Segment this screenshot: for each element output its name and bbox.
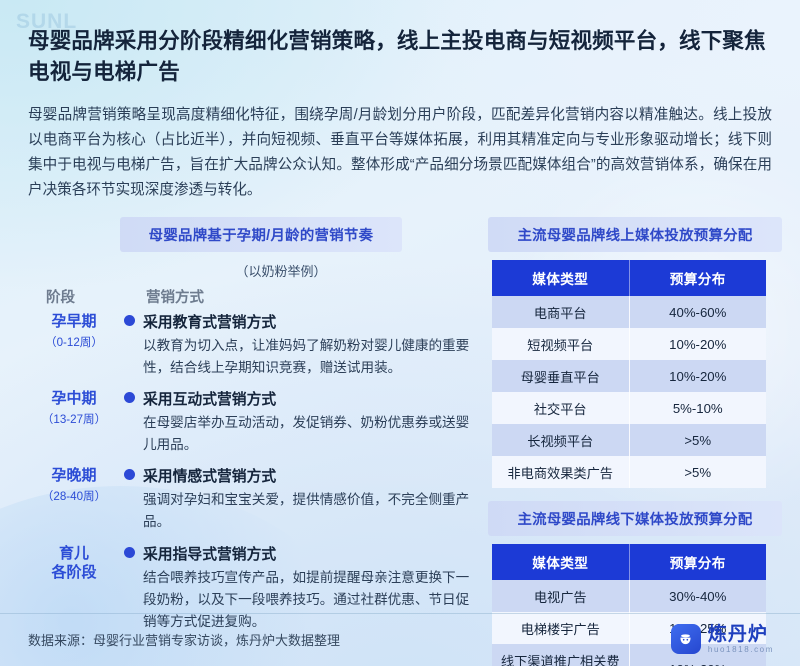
table-header-row: 媒体类型预算分布 [492,260,766,296]
bullet-dot-icon [124,469,135,480]
bullet-dot-icon [124,547,135,558]
tables-spacer [488,488,770,501]
brand-name: 炼丹炉 [708,625,774,644]
budget-share-cell: >5% [629,456,766,488]
budget-share-cell: >5% [629,424,766,456]
table-row: 电视广告30%-40% [492,580,766,612]
stage-row: 孕早期（0-12周）采用教育式营销方式以教育为切入点，让准妈妈了解奶粉对婴儿健康… [28,311,474,379]
stage-title: 采用互动式营销方式 [143,388,276,409]
online-budget-table-wrap: 媒体类型预算分布电商平台40%-60%短视频平台10%-20%母婴垂直平台10%… [488,260,770,488]
stage-weeks: （0-12周） [28,334,120,350]
table-row: 长视频平台>5% [492,424,766,456]
infographic-page: SUNL 母婴品牌采用分阶段精细化营销策略，线上主投电商与短视频平台，线下聚焦电… [0,0,800,666]
media-type-cell: 短视频平台 [492,328,629,360]
stage-label: 孕中期（13-27周） [28,388,120,456]
media-type-cell: 非电商效果类广告 [492,456,629,488]
brand-url: huo1818.com [708,646,774,654]
stage-title: 采用教育式营销方式 [143,311,276,332]
offline-budget-title: 主流母婴品牌线下媒体投放预算分配 [488,501,782,536]
stage-weeks: （13-27周） [28,411,120,427]
media-type-cell: 电商平台 [492,296,629,328]
bullet-dot-icon [124,392,135,403]
marketing-rhythm-panel: 母婴品牌基于孕期/月龄的营销节奏 （以奶粉举例） 阶段 营销方式 孕早期（0-1… [28,217,474,632]
page-title: 母婴品牌采用分阶段精细化营销策略，线上主投电商与短视频平台，线下聚焦电视与电梯广… [28,26,772,87]
table-row: 短视频平台10%-20% [492,328,766,360]
furnace-icon [671,624,701,654]
stage-title-line: 采用互动式营销方式 [124,388,474,409]
stage-list: 孕早期（0-12周）采用教育式营销方式以教育为切入点，让准妈妈了解奶粉对婴儿健康… [28,311,474,632]
media-type-cell: 母婴垂直平台 [492,360,629,392]
stage-table-header: 阶段 营销方式 [28,286,474,307]
summary-paragraph: 母婴品牌营销策略呈现高度精细化特征，围绕孕周/月龄划分用户阶段，匹配差异化营销内… [28,103,772,203]
brand-logo: 炼丹炉 huo1818.com [671,624,774,654]
budget-share-cell: 10%-20% [629,328,766,360]
budget-share-cell: 30%-40% [629,580,766,612]
stage-row: 孕中期（13-27周）采用互动式营销方式在母婴店举办互动活动，发促销券、奶粉优惠… [28,388,474,456]
stage-name: 孕晚期 [28,466,120,486]
table-row: 母婴垂直平台10%-20% [492,360,766,392]
online-budget-table: 媒体类型预算分布电商平台40%-60%短视频平台10%-20%母婴垂直平台10%… [492,260,766,488]
stage-row: 孕晚期（28-40周）采用情感式营销方式强调对孕妇和宝宝关爱，提供情感价值，不完… [28,465,474,533]
table-header-row: 媒体类型预算分布 [492,544,766,580]
stage-label: 孕晚期（28-40周） [28,465,120,533]
page-footer: 数据来源：母婴行业营销专家访谈，炼丹炉大数据整理 炼丹炉 huo1818.com [0,613,800,666]
column-header: 预算分布 [629,260,766,296]
media-type-cell: 长视频平台 [492,424,629,456]
stage-description: 强调对孕妇和宝宝关爱，提供情感价值，不完全侧重产品。 [143,489,474,533]
table-row: 社交平台5%-10% [492,392,766,424]
stage-title-line: 采用指导式营销方式 [124,543,474,564]
budget-share-cell: 5%-10% [629,392,766,424]
budget-share-cell: 40%-60% [629,296,766,328]
column-header: 预算分布 [629,544,766,580]
table-row: 非电商效果类广告>5% [492,456,766,488]
stage-description: 以教育为切入点，让准妈妈了解奶粉对婴儿健康的重要性，结合线上孕期知识竞赛，赠送试… [143,335,474,379]
stage-label: 孕早期（0-12周） [28,311,120,379]
data-source-note: 数据来源：母婴行业营销专家访谈，炼丹炉大数据整理 [28,630,340,649]
marketing-rhythm-title: 母婴品牌基于孕期/月龄的营销节奏 [120,217,402,252]
budget-panels: 主流母婴品牌线上媒体投放预算分配 媒体类型预算分布电商平台40%-60%短视频平… [488,217,770,666]
column-header: 媒体类型 [492,260,629,296]
stage-body: 采用教育式营销方式以教育为切入点，让准妈妈了解奶粉对婴儿健康的重要性，结合线上孕… [120,311,474,379]
budget-share-cell: 10%-20% [629,360,766,392]
stage-name: 育儿各阶段 [28,544,120,583]
online-budget-title: 主流母婴品牌线上媒体投放预算分配 [488,217,782,252]
stage-title-line: 采用情感式营销方式 [124,465,474,486]
bullet-dot-icon [124,315,135,326]
stage-body: 采用情感式营销方式强调对孕妇和宝宝关爱，提供情感价值，不完全侧重产品。 [120,465,474,533]
column-header: 媒体类型 [492,544,629,580]
brand-text: 炼丹炉 huo1818.com [708,625,774,654]
media-type-cell: 社交平台 [492,392,629,424]
stage-title: 采用情感式营销方式 [143,465,276,486]
content-area: 母婴品牌采用分阶段精细化营销策略，线上主投电商与短视频平台，线下聚焦电视与电梯广… [0,0,800,666]
stage-title-line: 采用教育式营销方式 [124,311,474,332]
stage-name: 孕中期 [28,389,120,409]
stage-title: 采用指导式营销方式 [143,543,276,564]
table-row: 电商平台40%-60% [492,296,766,328]
media-type-cell: 电视广告 [492,580,629,612]
stage-weeks: （28-40周） [28,488,120,504]
stage-name: 孕早期 [28,312,120,332]
method-column-header: 营销方式 [120,286,204,307]
panels-row: 母婴品牌基于孕期/月龄的营销节奏 （以奶粉举例） 阶段 营销方式 孕早期（0-1… [28,217,772,666]
stage-description: 在母婴店举办互动活动，发促销券、奶粉优惠券或送婴儿用品。 [143,412,474,456]
stage-body: 采用互动式营销方式在母婴店举办互动活动，发促销券、奶粉优惠券或送婴儿用品。 [120,388,474,456]
stage-column-header: 阶段 [28,286,120,307]
marketing-rhythm-subnote: （以奶粉举例） [88,261,474,280]
